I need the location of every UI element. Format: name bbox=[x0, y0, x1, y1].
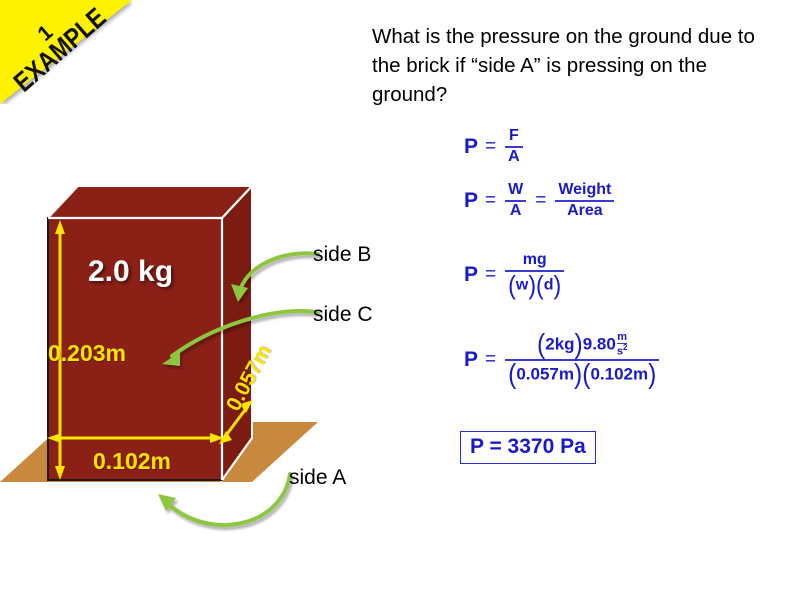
formula2-denominator-1: A bbox=[507, 202, 525, 220]
brick-top-face bbox=[48, 186, 252, 218]
formula1-equals: = bbox=[485, 136, 496, 158]
formula4-unit-exponent: 2 bbox=[623, 343, 627, 352]
formula3-numerator: mg bbox=[520, 252, 550, 270]
formula4-gravity-value: 9.80 bbox=[583, 334, 616, 353]
formula4-den-paren-open: ( bbox=[508, 360, 516, 389]
question-text: What is the pressure on the ground due t… bbox=[372, 22, 782, 109]
formula1-denominator: A bbox=[505, 148, 523, 166]
height-dimension-label: 0.203m bbox=[48, 340, 126, 367]
formula1-fraction: F A bbox=[503, 128, 525, 166]
formula4-depth-value: 0.057m bbox=[516, 364, 574, 383]
formula2-lhs: P bbox=[464, 190, 478, 211]
formula3-equals: = bbox=[485, 264, 496, 286]
brick-mass-label: 2.0 kg bbox=[88, 255, 173, 289]
formula4-fraction: (2kg)9.80ms2 (0.057m)(0.102m) bbox=[503, 332, 661, 388]
slide-canvas: 1 EXAMPLE What is the pressure on the gr… bbox=[0, 0, 800, 600]
formula4-lhs: P bbox=[464, 349, 478, 370]
formula4-den-paren-mid: )( bbox=[574, 360, 590, 389]
formula4-gravity-units: ms2 bbox=[617, 332, 628, 358]
formula3-depth-var: d bbox=[544, 276, 554, 293]
formula1-numerator: F bbox=[506, 128, 522, 146]
formula4-mass-value: 2kg bbox=[545, 334, 574, 353]
banner-triangle-shape bbox=[0, 0, 132, 104]
formula3-denominator: (w)(d) bbox=[505, 272, 564, 297]
formula4-width-value: 0.102m bbox=[590, 364, 648, 383]
formula-numeric-substitution: P = (2kg)9.80ms2 (0.057m)(0.102m) bbox=[464, 332, 661, 388]
formula4-numerator: (2kg)9.80ms2 bbox=[534, 332, 630, 359]
formula3-paren-mid: )( bbox=[528, 271, 543, 298]
formula4-unit-meters: m bbox=[617, 332, 627, 343]
label-side-b: side B bbox=[313, 243, 371, 267]
formula3-lhs: P bbox=[464, 264, 478, 285]
formula4-equals: = bbox=[485, 349, 496, 371]
answer-box: P = 3370 Pa bbox=[460, 431, 596, 464]
label-side-a: side A bbox=[289, 466, 346, 490]
formula2-equals-2: = bbox=[535, 190, 546, 212]
formula4-unit-seconds: s2 bbox=[617, 344, 628, 358]
formula2-fraction-1: W A bbox=[503, 182, 528, 220]
formula-mg-over-wd: P = mg (w)(d) bbox=[464, 252, 566, 297]
width-dimension-label: 0.102m bbox=[93, 448, 171, 475]
formula4-den-paren-close: ) bbox=[648, 360, 656, 389]
label-side-c: side C bbox=[313, 303, 373, 327]
formula-weight-area: P = W A = Weight Area bbox=[464, 182, 616, 220]
formula4-paren-open: ( bbox=[537, 330, 545, 359]
formula2-numerator-1: W bbox=[505, 182, 526, 200]
formula2-fraction-2: Weight Area bbox=[553, 182, 616, 220]
formula3-width-var: w bbox=[516, 276, 528, 293]
formula1-lhs: P bbox=[464, 136, 478, 157]
formula3-fraction: mg (w)(d) bbox=[503, 252, 566, 297]
example-corner-banner: 1 EXAMPLE bbox=[0, 0, 132, 104]
formula4-paren-close: ) bbox=[575, 330, 583, 359]
formula3-paren-close: ) bbox=[554, 271, 562, 298]
formula2-denominator-2: Area bbox=[564, 202, 606, 220]
formula3-paren-open: ( bbox=[508, 271, 516, 298]
formula2-equals-1: = bbox=[485, 190, 496, 212]
formula-pressure-definition: P = F A bbox=[464, 128, 525, 166]
formula2-numerator-2: Weight bbox=[555, 182, 614, 200]
formula4-denominator: (0.057m)(0.102m) bbox=[505, 361, 659, 388]
